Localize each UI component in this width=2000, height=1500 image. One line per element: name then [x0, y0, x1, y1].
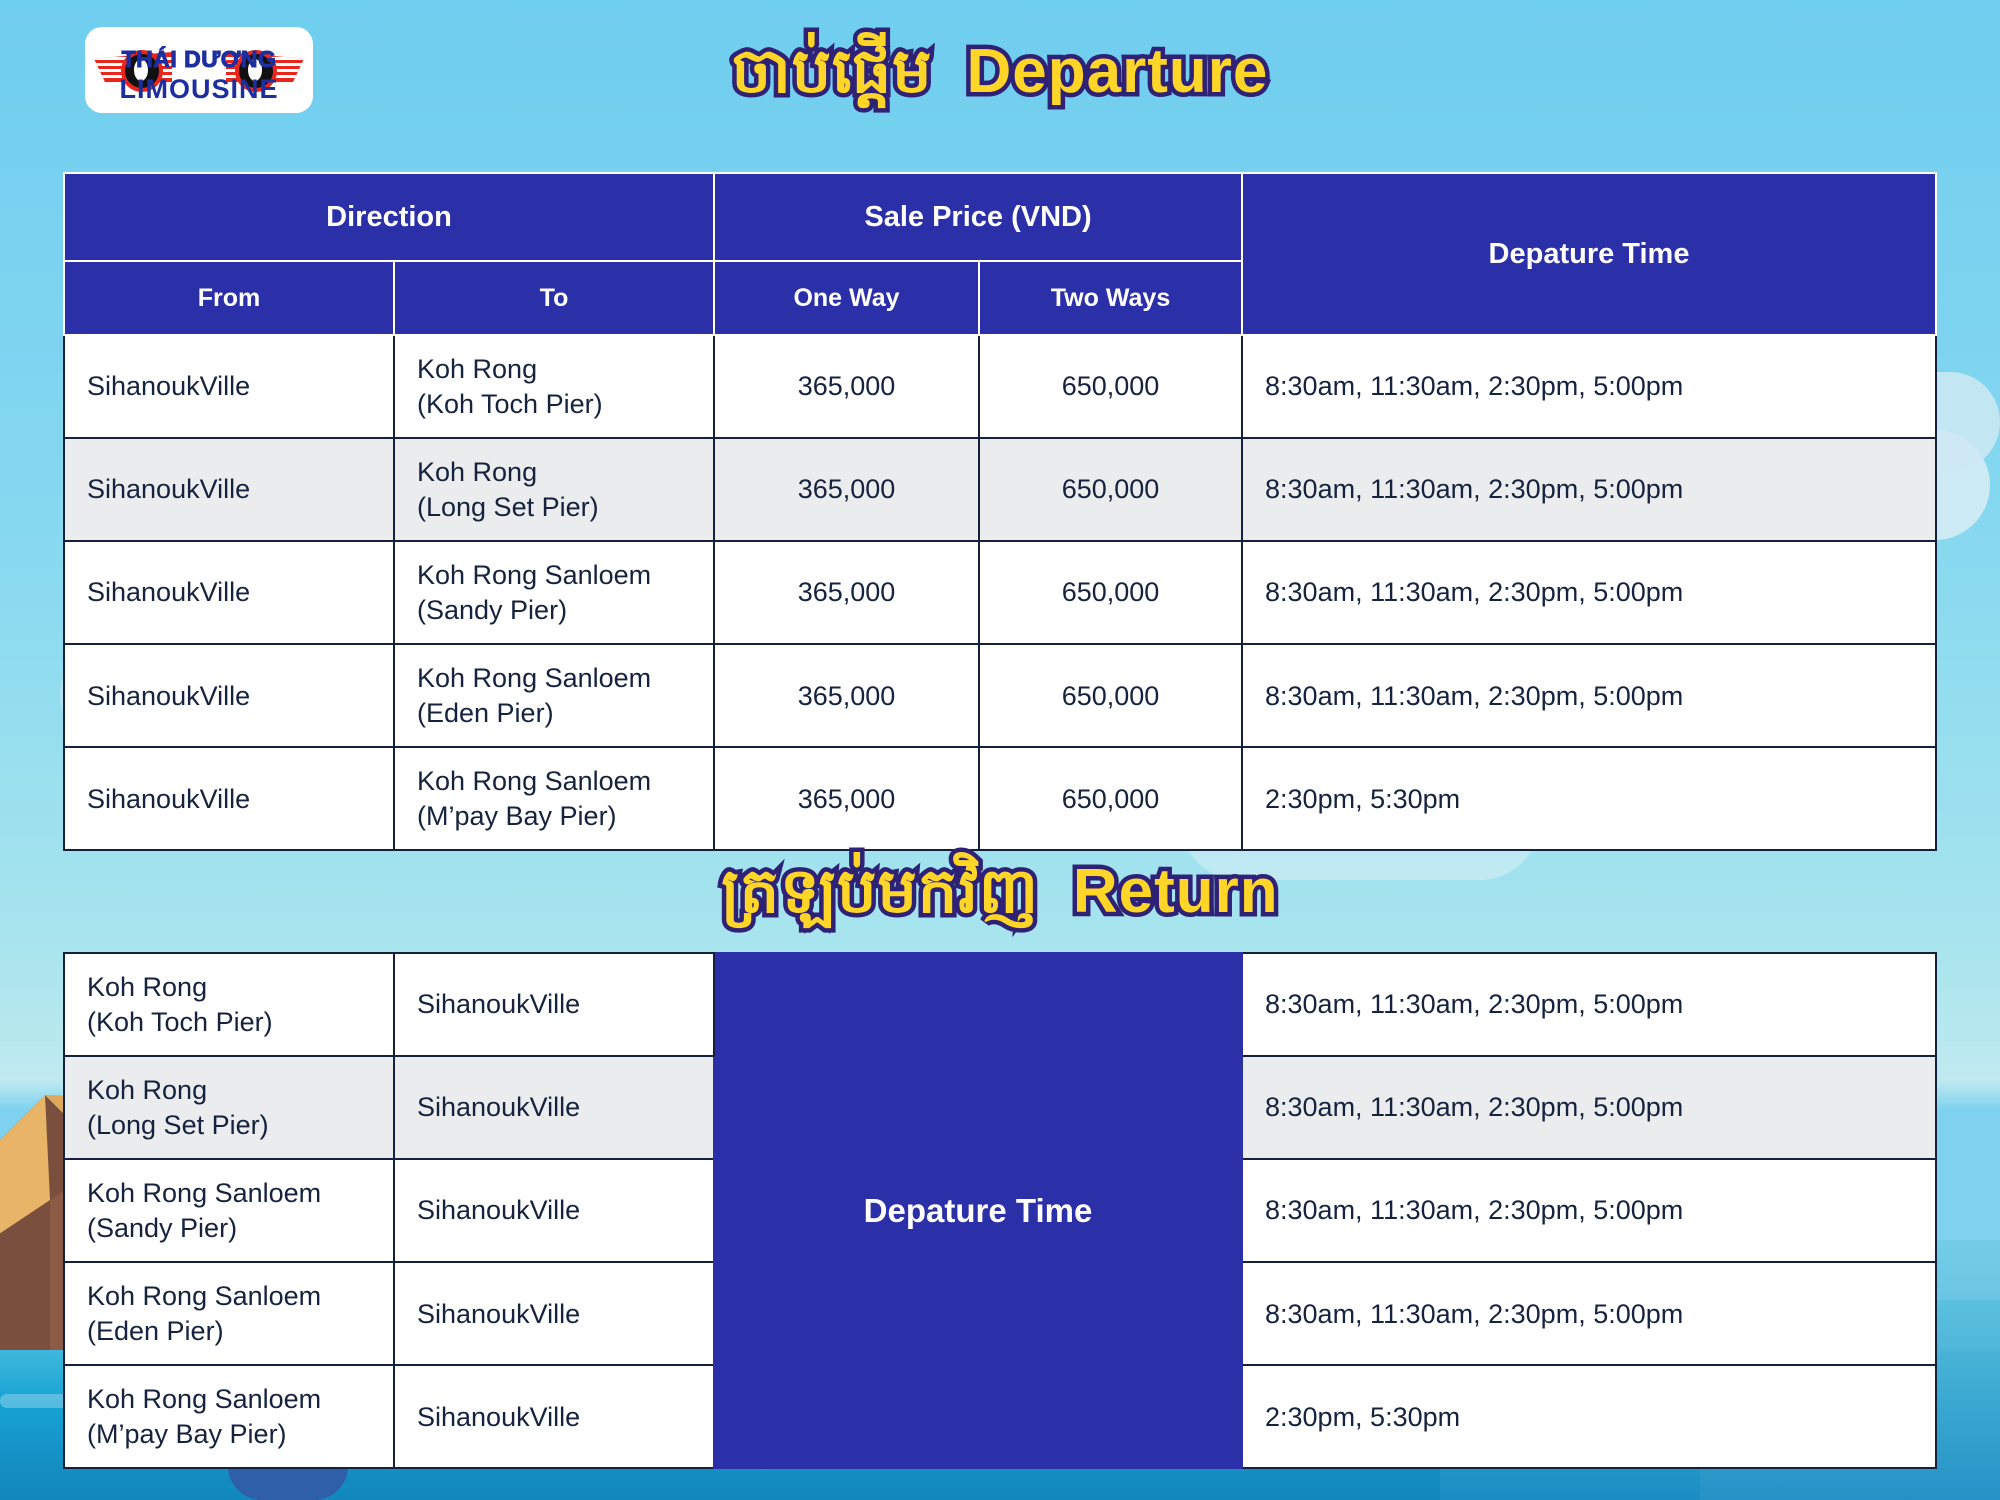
- cell-one-way: 365,000: [714, 644, 979, 747]
- cell-from: Koh Rong (Koh Toch Pier): [64, 953, 394, 1056]
- cell-to: Koh Rong (Koh Toch Pier): [394, 335, 714, 438]
- cell-from: SihanoukVille: [64, 747, 394, 850]
- title-departure-english: Departure: [966, 37, 1268, 106]
- cell-to: SihanoukVille: [394, 953, 714, 1056]
- page-title-return: ត្រឡប់មកវិញReturn: [0, 852, 2000, 943]
- cell-from: SihanoukVille: [64, 438, 394, 541]
- cell-from: Koh Rong Sanloem (Eden Pier): [64, 1262, 394, 1365]
- cell-time: 8:30am, 11:30am, 2:30pm, 5:00pm: [1242, 1159, 1936, 1262]
- header-two-ways: Two Ways: [979, 261, 1242, 335]
- cell-from: Koh Rong Sanloem (M’pay Bay Pier): [64, 1365, 394, 1468]
- header-direction: Direction: [64, 173, 714, 261]
- table-row: Koh Rong (Koh Toch Pier) SihanoukVille D…: [64, 953, 1936, 1056]
- cell-from-line2: (Koh Toch Pier): [87, 1005, 371, 1040]
- cell-from-line2: (Sandy Pier): [87, 1211, 371, 1246]
- header-departure-time: Depature Time: [1242, 173, 1936, 335]
- cell-from: SihanoukVille: [64, 644, 394, 747]
- cell-from: SihanoukVille: [64, 541, 394, 644]
- cell-two-ways: 650,000: [979, 644, 1242, 747]
- table-row: SihanoukVille Koh Rong Sanloem (Eden Pie…: [64, 644, 1936, 747]
- cell-to-line2: (Koh Toch Pier): [417, 387, 691, 422]
- cell-from-line2: (Eden Pier): [87, 1314, 371, 1349]
- cell-to-line2: (Eden Pier): [417, 696, 691, 731]
- cell-time: 8:30am, 11:30am, 2:30pm, 5:00pm: [1242, 438, 1936, 541]
- cell-to-line2: (Long Set Pier): [417, 490, 691, 525]
- cell-to-line1: Koh Rong Sanloem: [417, 764, 691, 799]
- return-schedule-table: Koh Rong (Koh Toch Pier) SihanoukVille D…: [63, 952, 1937, 1469]
- cell-time: 8:30am, 11:30am, 2:30pm, 5:00pm: [1242, 644, 1936, 747]
- cell-to-line2: (Sandy Pier): [417, 593, 691, 628]
- cell-from-line1: Koh Rong: [87, 1073, 371, 1108]
- cell-to: Koh Rong (Long Set Pier): [394, 438, 714, 541]
- cell-from-line1: Koh Rong Sanloem: [87, 1279, 371, 1314]
- cell-one-way: 365,000: [714, 747, 979, 850]
- cell-time: 8:30am, 11:30am, 2:30pm, 5:00pm: [1242, 1262, 1936, 1365]
- cell-two-ways: 650,000: [979, 335, 1242, 438]
- cell-to-line1: Koh Rong: [417, 352, 691, 387]
- cell-to: Koh Rong Sanloem (Eden Pier): [394, 644, 714, 747]
- header-to: To: [394, 261, 714, 335]
- table-row: SihanoukVille Koh Rong (Long Set Pier) 3…: [64, 438, 1936, 541]
- cell-to: SihanoukVille: [394, 1365, 714, 1468]
- cell-from-line1: Koh Rong Sanloem: [87, 1382, 371, 1417]
- cell-two-ways: 650,000: [979, 747, 1242, 850]
- table-row: SihanoukVille Koh Rong (Koh Toch Pier) 3…: [64, 335, 1936, 438]
- header-sale-price: Sale Price (VND): [714, 173, 1242, 261]
- cell-to-line1: Koh Rong Sanloem: [417, 558, 691, 593]
- cell-from: Koh Rong Sanloem (Sandy Pier): [64, 1159, 394, 1262]
- cell-from-line1: Koh Rong: [87, 970, 371, 1005]
- cell-to: SihanoukVille: [394, 1159, 714, 1262]
- cell-to: Koh Rong Sanloem (M’pay Bay Pier): [394, 747, 714, 850]
- header-from: From: [64, 261, 394, 335]
- cell-time: 8:30am, 11:30am, 2:30pm, 5:00pm: [1242, 335, 1936, 438]
- cell-from: SihanoukVille: [64, 335, 394, 438]
- cell-two-ways: 650,000: [979, 438, 1242, 541]
- cell-to-line1: Koh Rong: [417, 455, 691, 490]
- title-return-english: Return: [1073, 857, 1279, 926]
- cell-one-way: 365,000: [714, 541, 979, 644]
- cell-time: 8:30am, 11:30am, 2:30pm, 5:00pm: [1242, 953, 1936, 1056]
- cell-from-line2: (Long Set Pier): [87, 1108, 371, 1143]
- cell-from: Koh Rong (Long Set Pier): [64, 1056, 394, 1159]
- cell-time: 8:30am, 11:30am, 2:30pm, 5:00pm: [1242, 1056, 1936, 1159]
- table-row: SihanoukVille Koh Rong Sanloem (Sandy Pi…: [64, 541, 1936, 644]
- header-one-way: One Way: [714, 261, 979, 335]
- cell-to: SihanoukVille: [394, 1262, 714, 1365]
- header-departure-time-return: Depature Time: [714, 953, 1242, 1468]
- departure-schedule-table: Direction Sale Price (VND) Depature Time…: [63, 172, 1937, 851]
- cell-to: Koh Rong Sanloem (Sandy Pier): [394, 541, 714, 644]
- table-row: SihanoukVille Koh Rong Sanloem (M’pay Ba…: [64, 747, 1936, 850]
- cell-from-line2: (M’pay Bay Pier): [87, 1417, 371, 1452]
- title-departure-khmer: ចាប់ផ្តើម: [732, 34, 933, 107]
- cell-from-line1: Koh Rong Sanloem: [87, 1176, 371, 1211]
- title-return-khmer: ត្រឡប់មកវិញ: [721, 854, 1039, 927]
- cell-time: 2:30pm, 5:30pm: [1242, 747, 1936, 850]
- page-title-departure: ចាប់ផ្តើមDeparture: [0, 32, 2000, 123]
- cell-two-ways: 650,000: [979, 541, 1242, 644]
- cell-one-way: 365,000: [714, 335, 979, 438]
- cell-time: 2:30pm, 5:30pm: [1242, 1365, 1936, 1468]
- cell-time: 8:30am, 11:30am, 2:30pm, 5:00pm: [1242, 541, 1936, 644]
- cell-one-way: 365,000: [714, 438, 979, 541]
- table-header-group-row: Direction Sale Price (VND) Depature Time: [64, 173, 1936, 261]
- cell-to-line1: Koh Rong Sanloem: [417, 661, 691, 696]
- cell-to-line2: (M’pay Bay Pier): [417, 799, 691, 834]
- cell-to: SihanoukVille: [394, 1056, 714, 1159]
